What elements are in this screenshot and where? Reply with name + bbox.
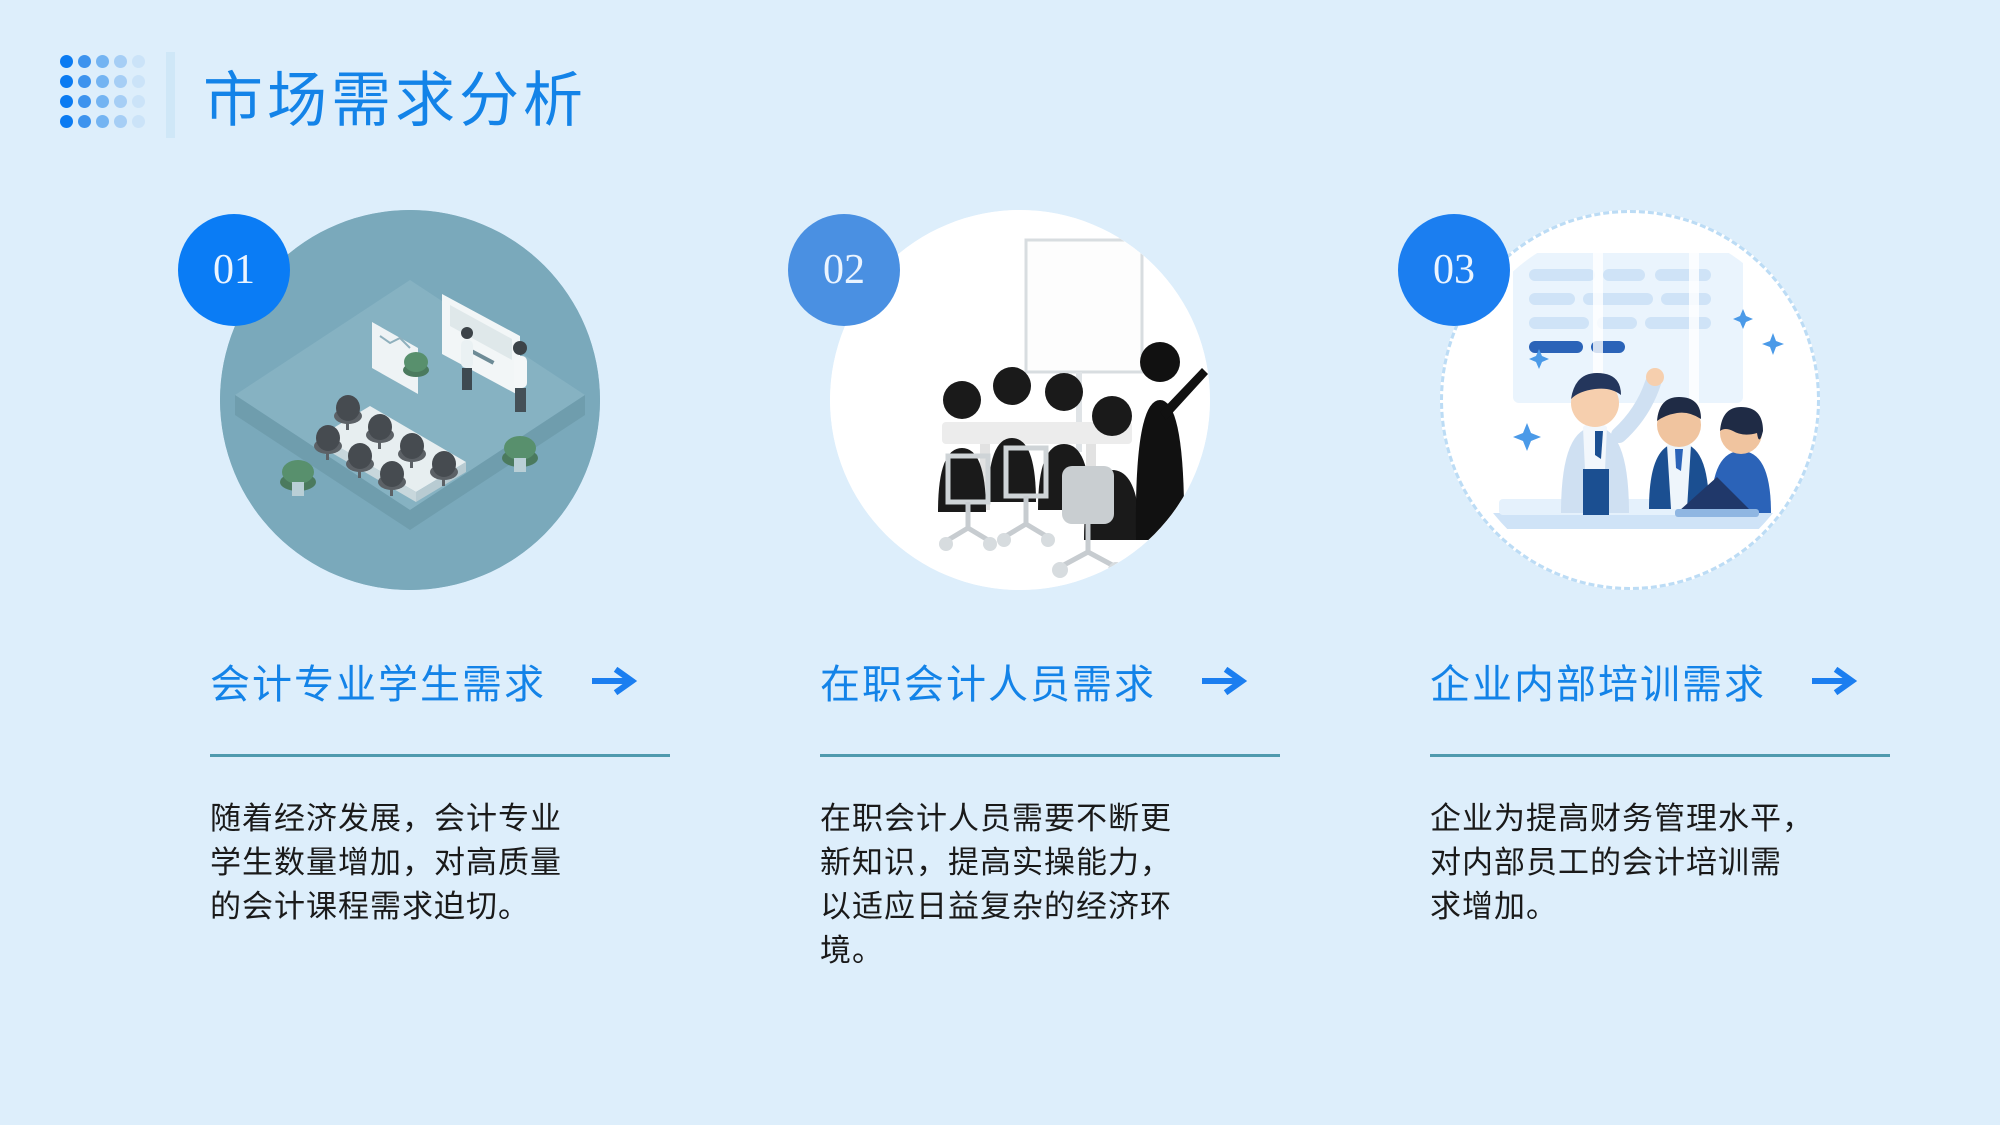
- card-02-divider: [820, 754, 1280, 757]
- card-02-heading: 在职会计人员需求: [820, 652, 1156, 710]
- card-02-number-badge: 02: [788, 214, 900, 326]
- card-02-number: 02: [823, 246, 865, 294]
- card-02-media: 02: [830, 210, 1210, 590]
- grid-dot: [132, 55, 145, 68]
- grid-dot: [114, 95, 127, 108]
- card-01-number-badge: 01: [178, 214, 290, 326]
- grid-dot: [78, 55, 91, 68]
- card-03-body: 企业为提高财务管理水平， 对内部员工的会计培训需 求增加。: [1430, 797, 1830, 929]
- arrow-right-icon[interactable]: [1202, 664, 1250, 698]
- card-01-heading: 会计专业学生需求: [210, 652, 546, 710]
- card-03-media: 03: [1440, 210, 1820, 590]
- arrow-right-icon[interactable]: [1812, 664, 1860, 698]
- grid-dot: [60, 55, 73, 68]
- card-01-header-row[interactable]: 会计专业学生需求: [210, 652, 770, 710]
- grid-dot: [60, 75, 73, 88]
- card-03-divider: [1430, 754, 1890, 757]
- grid-dot: [96, 55, 109, 68]
- grid-dot: [114, 55, 127, 68]
- card-02[interactable]: 02 在职会计人员需求 在职会计人员需要不断更 新知识，提高实操能力， 以适应日…: [760, 210, 1380, 973]
- arrow-right-icon[interactable]: [592, 664, 640, 698]
- card-01-media: 01: [220, 210, 600, 590]
- card-01[interactable]: 01 会计专业学生需求 随着经济发展，会计专业 学生数量增加，对高质量 的会计课…: [150, 210, 770, 973]
- card-03-number: 03: [1433, 246, 1475, 294]
- grid-dot: [78, 75, 91, 88]
- dot-grid-icon: [60, 55, 150, 135]
- card-01-number: 01: [213, 246, 255, 294]
- card-03-number-badge: 03: [1398, 214, 1510, 326]
- page-title: 市场需求分析: [203, 52, 587, 139]
- card-02-body: 在职会计人员需要不断更 新知识，提高实操能力， 以适应日益复杂的经济环 境。: [820, 797, 1220, 973]
- slide-header: 市场需求分析: [60, 40, 587, 150]
- grid-dot: [96, 75, 109, 88]
- cards-row: 01 会计专业学生需求 随着经济发展，会计专业 学生数量增加，对高质量 的会计课…: [0, 210, 2000, 973]
- title-accent-bar: [166, 52, 175, 138]
- grid-dot: [96, 95, 109, 108]
- card-01-divider: [210, 754, 670, 757]
- grid-dot: [78, 115, 91, 128]
- grid-dot: [96, 115, 109, 128]
- grid-dot: [132, 115, 145, 128]
- grid-dot: [78, 95, 91, 108]
- grid-dot: [114, 75, 127, 88]
- card-02-header-row[interactable]: 在职会计人员需求: [820, 652, 1380, 710]
- grid-dot: [114, 115, 127, 128]
- grid-dot: [132, 75, 145, 88]
- grid-dot: [60, 95, 73, 108]
- card-03-heading: 企业内部培训需求: [1430, 652, 1766, 710]
- grid-dot: [60, 115, 73, 128]
- grid-dot: [132, 95, 145, 108]
- card-03[interactable]: 03 企业内部培训需求 企业为提高财务管理水平， 对内部员工的会计培训需 求增加…: [1370, 210, 1990, 973]
- card-03-header-row[interactable]: 企业内部培训需求: [1430, 652, 1990, 710]
- card-01-body: 随着经济发展，会计专业 学生数量增加，对高质量 的会计课程需求迫切。: [210, 797, 610, 929]
